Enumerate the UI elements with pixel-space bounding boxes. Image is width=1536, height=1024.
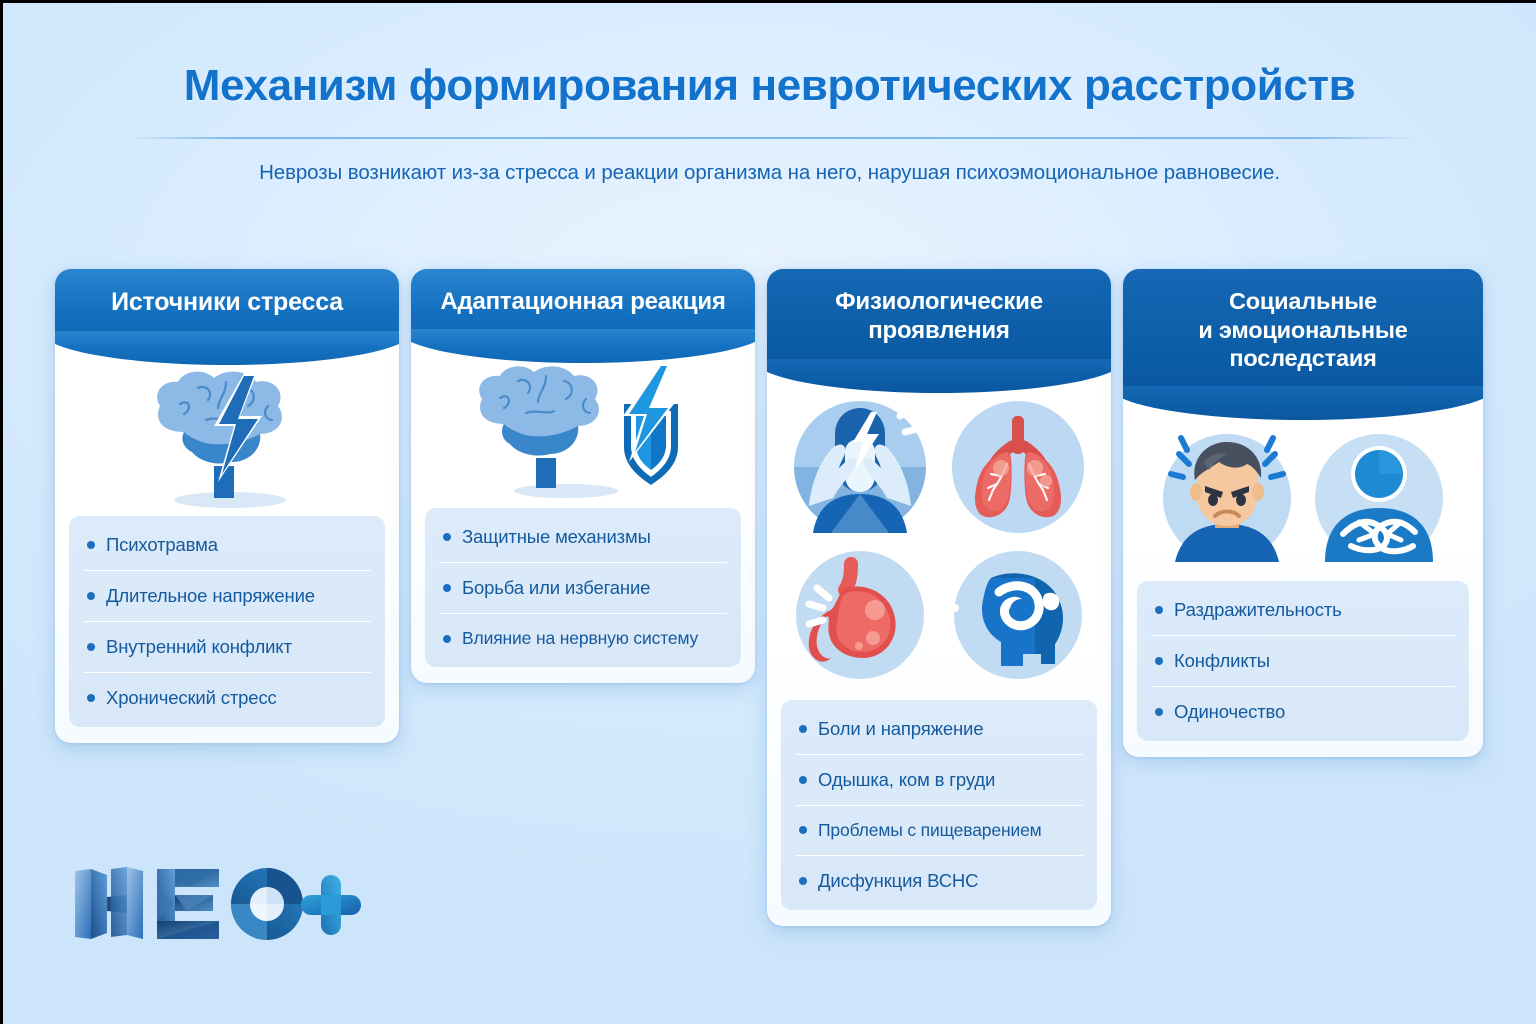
- list-item: Дисфункция ВСНС: [795, 856, 1083, 906]
- card-physiological-manifestations: Физиологические проявления: [767, 269, 1111, 926]
- list-item-label: Конфликты: [1174, 650, 1270, 672]
- card-header: Социальные и эмоциональные последстаия: [1123, 269, 1483, 399]
- card-header: Источники стресса: [55, 269, 399, 344]
- list-item: Психотравма: [83, 520, 371, 571]
- brain-lightning-icon: [55, 344, 399, 512]
- card-title-line1: Социальные: [1139, 287, 1467, 316]
- card-title-line2: проявления: [783, 316, 1095, 345]
- angry-face-icon: [1151, 422, 1303, 574]
- card-title-line1: Физиологические: [783, 287, 1095, 316]
- card-row: Источники стресса: [55, 269, 1487, 926]
- list-item: Конфликты: [1151, 636, 1455, 687]
- list-item-label: Хронический стресс: [106, 687, 277, 709]
- list-item-label: Одиночество: [1174, 701, 1285, 723]
- card-title: Адаптационная реакция: [427, 287, 739, 316]
- card-adaptive-reaction: Адаптационная реакция: [411, 269, 755, 683]
- list-item: Внутренний конфликт: [83, 622, 371, 673]
- list-item-label: Дисфункция ВСНС: [818, 870, 978, 892]
- card-header: Физиологические проявления: [767, 269, 1111, 372]
- stomach-icon: [787, 542, 933, 688]
- withdrawn-person-icon: [1303, 422, 1455, 574]
- bullet-icon: [87, 541, 95, 549]
- page-subtitle: Неврозы возникают из-за стресса и реакци…: [3, 161, 1536, 185]
- bullet-icon: [1155, 606, 1163, 614]
- list-item: Одиночество: [1151, 687, 1455, 737]
- card-title-line2: и эмоциональные: [1139, 316, 1467, 345]
- bullet-icon: [443, 635, 451, 643]
- list-item: Раздражительность: [1151, 585, 1455, 636]
- logo-letter-o: [231, 868, 303, 940]
- logo-letter-e: [157, 869, 219, 939]
- list-item: Одышка, ком в груди: [795, 755, 1083, 806]
- bullet-icon: [1155, 708, 1163, 716]
- brain-shield-icon: [411, 342, 755, 504]
- list-item-label: Длительное напряжение: [106, 585, 315, 607]
- list-item-label: Боли и напряжение: [818, 718, 983, 740]
- header: Механизм формирования невротических расс…: [3, 3, 1536, 185]
- card-header: Адаптационная реакция: [411, 269, 755, 342]
- bullet-icon: [87, 592, 95, 600]
- list-item-label: Психотравма: [106, 534, 218, 556]
- bullet-list: Боли и напряжение Одышка, ком в груди Пр…: [781, 700, 1097, 910]
- bullet-icon: [799, 826, 807, 834]
- lungs-icon: [945, 394, 1091, 540]
- list-item: Борьба или избегание: [439, 563, 727, 614]
- list-item: Влияние на нервную систему: [439, 614, 727, 663]
- bullet-list: Психотравма Длительное напряжение Внутре…: [69, 516, 385, 727]
- list-item-label: Защитные механизмы: [462, 526, 651, 548]
- list-item: Хронический стресс: [83, 673, 371, 723]
- bullet-icon: [87, 643, 95, 651]
- card-sources-of-stress: Источники стресса: [55, 269, 399, 743]
- list-item: Защитные механизмы: [439, 512, 727, 563]
- bullet-list: Раздражительность Конфликты Одиночество: [1137, 581, 1469, 741]
- card-title-line3: последстаия: [1139, 344, 1467, 373]
- list-item: Длительное напряжение: [83, 571, 371, 622]
- bullet-icon: [1155, 657, 1163, 665]
- bullet-list: Защитные механизмы Борьба или избегание …: [425, 508, 741, 667]
- list-item: Проблемы с пищеварением: [795, 806, 1083, 856]
- list-item-label: Раздражительность: [1174, 599, 1342, 621]
- list-item-label: Одышка, ком в груди: [818, 769, 995, 791]
- title-divider: [125, 137, 1415, 139]
- bullet-icon: [799, 877, 807, 885]
- headache-person-icon: [787, 394, 933, 540]
- list-item-label: Борьба или избегание: [462, 577, 650, 599]
- infographic-canvas: Механизм формирования невротических расс…: [3, 3, 1536, 1024]
- logo-letter-n: [75, 867, 143, 939]
- bullet-icon: [443, 533, 451, 541]
- list-item: Боли и напряжение: [795, 704, 1083, 755]
- list-item-label: Проблемы с пищеварением: [818, 820, 1042, 841]
- bullet-icon: [443, 584, 451, 592]
- list-item-label: Влияние на нервную систему: [462, 628, 698, 649]
- card-title: Источники стресса: [71, 287, 383, 318]
- icon-pair: [1123, 399, 1483, 577]
- page-title: Механизм формирования невротических расс…: [3, 61, 1536, 111]
- brand-logo: [71, 861, 331, 947]
- list-item-label: Внутренний конфликт: [106, 636, 292, 658]
- card-title: Социальные и эмоциональные последстаия: [1139, 287, 1467, 373]
- bullet-icon: [799, 725, 807, 733]
- icon-grid: [767, 372, 1111, 696]
- bullet-icon: [799, 776, 807, 784]
- card-social-emotional-consequences: Социальные и эмоциональные последстаия: [1123, 269, 1483, 757]
- card-title: Физиологические проявления: [783, 287, 1095, 346]
- bullet-icon: [87, 694, 95, 702]
- head-nervous-system-icon: [945, 542, 1091, 688]
